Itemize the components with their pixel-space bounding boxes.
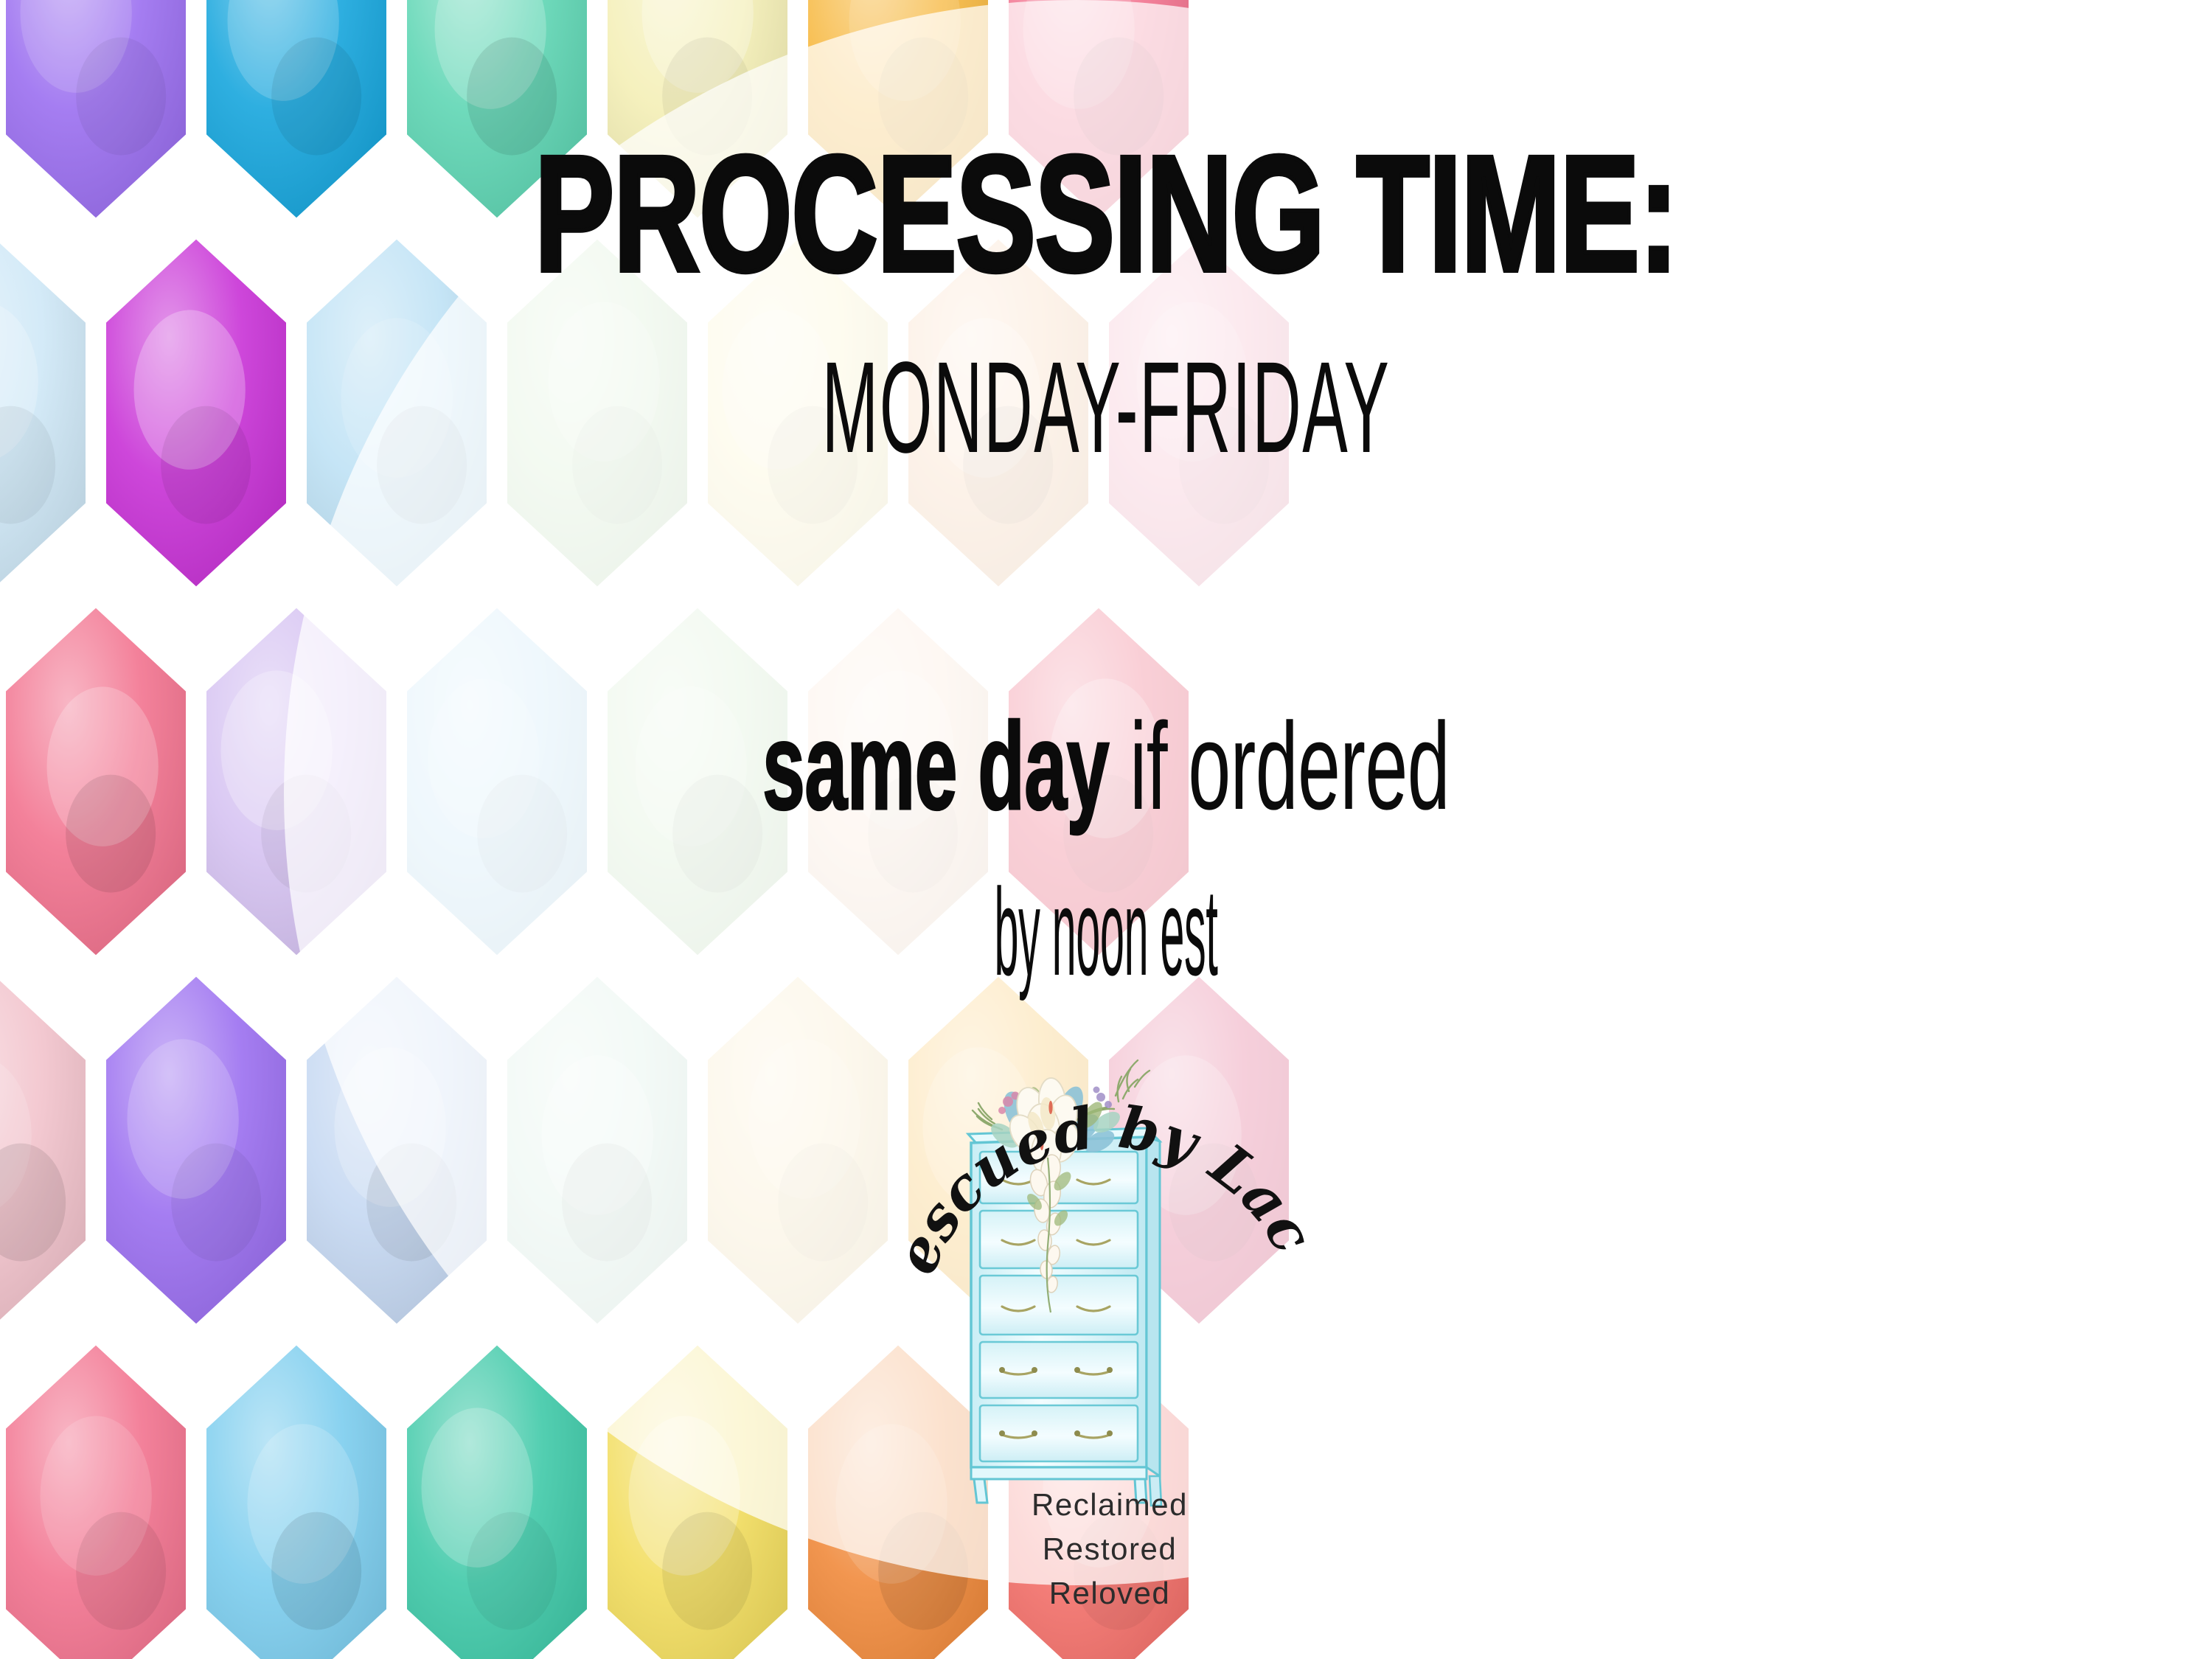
promo-graphic: PROCESSING TIME: MONDAY-FRIDAY same day …	[0, 0, 2212, 1659]
tagline-line-3: Reloved	[925, 1578, 1294, 1609]
brand-logo: Rescued by Lacey Reclaimed Restored Relo…	[925, 1025, 1294, 1585]
tagline-line-2: Restored	[925, 1534, 1294, 1565]
tagline-line-1: Reclaimed	[925, 1489, 1294, 1520]
